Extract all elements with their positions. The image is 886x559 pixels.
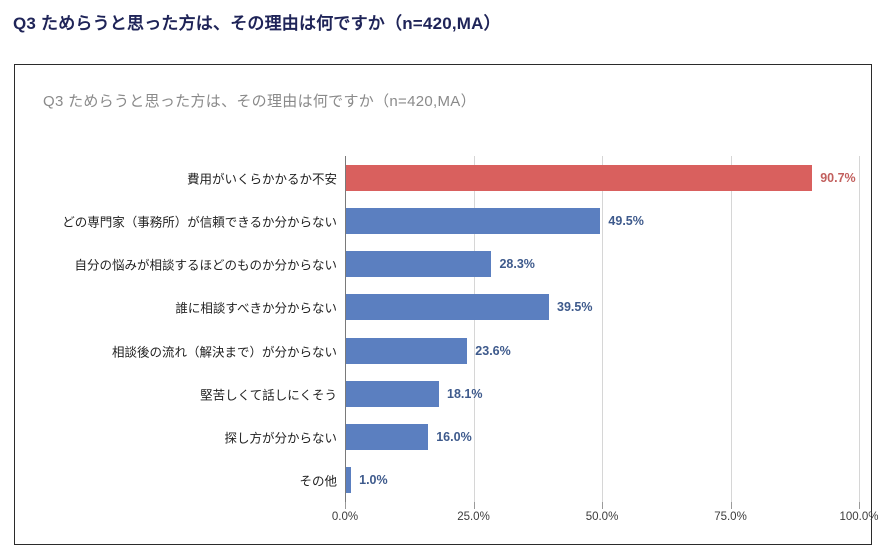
x-tick-label: 0.0% [332, 511, 358, 523]
chart-category-row: どの専門家（事務所）が信頼できるか分からない49.5% [345, 199, 859, 242]
bar-value-label: 1.0% [359, 473, 388, 487]
category-label: 誰に相談すべきか分からない [175, 298, 337, 317]
chart-bar [346, 424, 428, 450]
bar-value-label: 23.6% [475, 344, 510, 358]
x-tick-mark [731, 502, 732, 509]
chart-category-row: 誰に相談すべきか分からない39.5% [345, 286, 859, 329]
category-label: どの専門家（事務所）が信頼できるか分からない [62, 211, 337, 230]
bar-value-label: 39.5% [557, 300, 592, 314]
category-label: 堅苦しくて話しにくそう [200, 384, 337, 403]
chart-bar [346, 338, 467, 364]
x-tick-label: 100.0% [839, 511, 878, 523]
category-label: その他 [299, 471, 337, 490]
chart-plot-area: 費用がいくらかかるか不安90.7%どの専門家（事務所）が信頼できるか分からない4… [345, 156, 859, 502]
x-tick-mark [602, 502, 603, 509]
chart-title: Q3 ためらうと思った方は、その理由は何ですか（n=420,MA） [43, 90, 476, 111]
x-tick-mark [859, 502, 860, 509]
x-tick-label: 75.0% [714, 511, 747, 523]
chart-bar [346, 294, 549, 320]
chart-category-row: 相談後の流れ（解決まで）が分からない23.6% [345, 329, 859, 372]
x-tick-mark [345, 502, 346, 509]
x-axis-ticks [345, 502, 859, 510]
x-tick-label: 25.0% [457, 511, 490, 523]
bar-value-label: 49.5% [608, 214, 643, 228]
bar-value-label: 90.7% [820, 171, 855, 185]
chart-bar [346, 467, 351, 493]
bar-value-label: 28.3% [499, 257, 534, 271]
chart-bar [346, 165, 812, 191]
chart-category-row: 探し方が分からない16.0% [345, 416, 859, 459]
page-title: Q3 ためらうと思った方は、その理由は何ですか（n=420,MA） [13, 9, 501, 34]
gridline [859, 156, 860, 502]
chart-category-row: 自分の悩みが相談するほどのものか分からない28.3% [345, 243, 859, 286]
bar-value-label: 16.0% [436, 430, 471, 444]
chart-category-row: 堅苦しくて話しにくそう18.1% [345, 372, 859, 415]
bar-value-label: 18.1% [447, 387, 482, 401]
chart-category-row: 費用がいくらかかるか不安90.7% [345, 156, 859, 199]
x-tick-mark [474, 502, 475, 509]
x-axis-labels: 0.0%25.0%50.0%75.0%100.0% [345, 511, 859, 531]
chart-bar [346, 381, 439, 407]
x-tick-label: 50.0% [586, 511, 619, 523]
category-label: 相談後の流れ（解決まで）が分からない [112, 341, 337, 360]
category-label: 費用がいくらかかるか不安 [187, 168, 337, 187]
chart-bar [346, 251, 491, 277]
category-label: 探し方が分からない [224, 428, 337, 447]
chart-bar [346, 208, 600, 234]
category-label: 自分の悩みが相談するほどのものか分からない [74, 255, 337, 274]
chart-card: Q3 ためらうと思った方は、その理由は何ですか（n=420,MA） 費用がいくら… [14, 64, 872, 545]
chart-category-row: その他1.0% [345, 459, 859, 502]
